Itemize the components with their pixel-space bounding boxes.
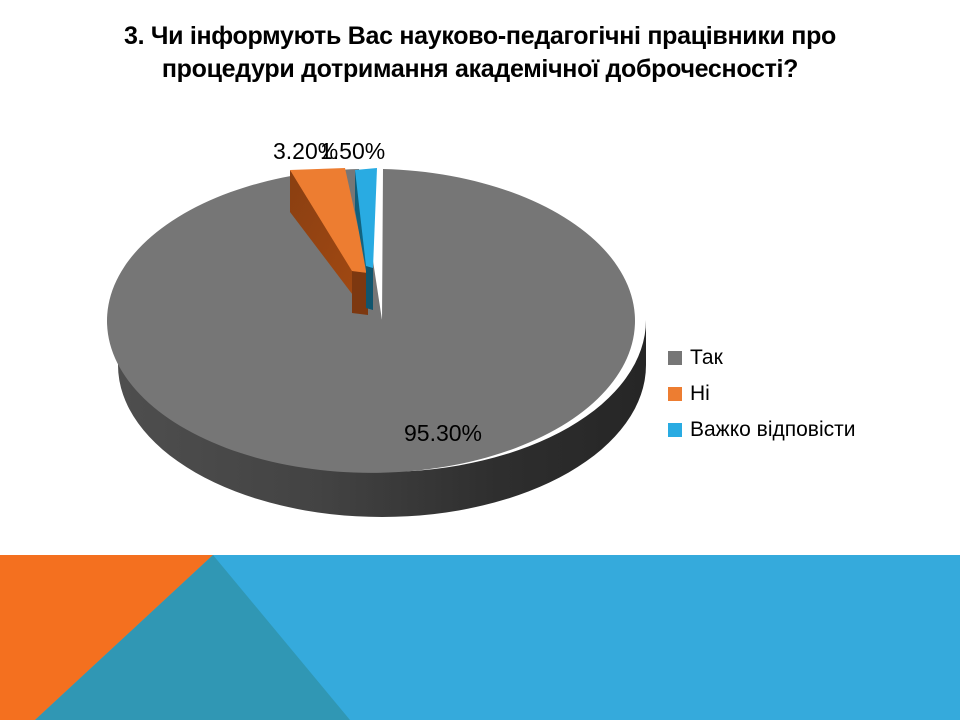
legend-item-tak[interactable]: Так (668, 340, 855, 376)
legend-label-vazhko: Важко відповісти (690, 418, 855, 442)
pie-slice-tak[interactable] (107, 169, 646, 517)
legend-item-ni[interactable]: Ні (668, 376, 855, 412)
data-label-vazhko: 1.50% (320, 138, 385, 165)
data-label-tak: 95.30% (404, 420, 482, 447)
legend-swatch-vazhko (668, 423, 682, 437)
footer-decoration (0, 530, 960, 720)
chart-legend: Так Ні Важко відповісти (668, 340, 855, 448)
slide-canvas: 3. Чи інформують Вас науково-педагогічні… (0, 0, 960, 720)
legend-label-tak: Так (690, 346, 723, 370)
legend-swatch-ni (668, 387, 682, 401)
pie-slice-vazhko-side-right (366, 266, 373, 310)
pie-slice-ni-side-right (352, 271, 368, 315)
legend-swatch-tak (668, 351, 682, 365)
legend-label-ni: Ні (690, 382, 710, 406)
legend-item-vazhko[interactable]: Важко відповісти (668, 412, 855, 448)
